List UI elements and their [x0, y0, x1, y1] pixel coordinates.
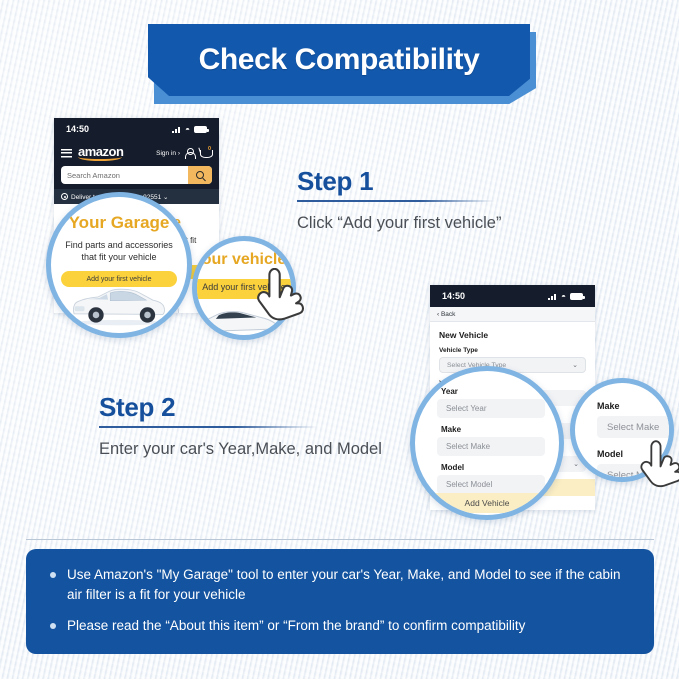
- note-item: Use Amazon's "My Garage" tool to enter y…: [50, 565, 632, 605]
- magnifier-form-content: Year Select Year Make Select Make Model …: [415, 371, 559, 515]
- zoom-label-year: Year: [441, 387, 458, 396]
- bullet-dot-icon: [50, 623, 56, 629]
- zoom-add-vehicle-button[interactable]: Add Vehicle: [410, 493, 564, 513]
- note-item: Please read the “About this item” or “Fr…: [50, 616, 632, 636]
- chevron-down-icon: ⌄: [572, 361, 578, 369]
- wifi-icon: ◓: [185, 126, 190, 133]
- amazon-nav-bar: amazon Sign in › 0: [54, 140, 219, 166]
- status-time: 14:50: [442, 291, 465, 301]
- white-suv-image: [63, 281, 175, 327]
- zoom-select-model-value: Select Model: [446, 480, 492, 489]
- sign-in-link[interactable]: Sign in ›: [156, 150, 180, 157]
- step-2-rule: [99, 426, 317, 428]
- search-bar-row: Search Amazon: [54, 166, 219, 189]
- step-2-block: Step 2 Enter your car's Year,Make, and M…: [99, 392, 399, 461]
- cart-count-badge: 0: [208, 146, 211, 152]
- back-button[interactable]: ‹ Back: [430, 307, 595, 322]
- zoom-label-model: Model: [441, 463, 464, 472]
- search-placeholder: Search Amazon: [61, 171, 188, 180]
- bullet-dot-icon: [50, 572, 56, 578]
- battery-icon: [194, 126, 207, 133]
- search-submit-button[interactable]: [188, 166, 212, 184]
- zoom-partial-garage-text: our vehicle: [197, 251, 291, 269]
- phone1-status-bar: 14:50 ◓: [54, 118, 219, 140]
- search-icon: [196, 171, 204, 179]
- step-1-description: Click “Add your first vehicle”: [297, 211, 597, 235]
- step-2-title: Step 2: [99, 392, 399, 423]
- step-1-title: Step 1: [297, 166, 597, 197]
- field-label-vehicle-type: Vehicle Type: [439, 347, 586, 354]
- hand-pointer-cursor: [636, 440, 679, 496]
- battery-icon: [570, 293, 583, 300]
- status-icons: ◓: [548, 293, 583, 300]
- hand-pointer-cursor: [252, 268, 304, 330]
- status-time: 14:50: [66, 124, 89, 134]
- account-person-icon[interactable]: [185, 148, 194, 159]
- hamburger-menu-icon[interactable]: [61, 149, 72, 158]
- shopping-cart-icon[interactable]: 0: [199, 147, 212, 159]
- zoom-make-select[interactable]: Select Make: [597, 416, 674, 438]
- section-divider: [26, 539, 654, 540]
- magnifier-garage-zoom: Your Garage Find parts and accessories t…: [46, 192, 192, 338]
- form-title: New Vehicle: [439, 330, 586, 340]
- zoom-select-model[interactable]: Select Model: [437, 475, 545, 494]
- status-icons: ◓: [172, 126, 207, 133]
- amazon-logo-text: amazon: [78, 144, 123, 159]
- magnifier-garage-content: Your Garage Find parts and accessories t…: [51, 197, 187, 333]
- note-text: Use Amazon's "My Garage" tool to enter y…: [67, 565, 632, 605]
- zoom-select-year[interactable]: Select Year: [437, 399, 545, 418]
- step-2-description: Enter your car's Year,Make, and Model: [99, 437, 399, 461]
- zoom-select-year-value: Select Year: [446, 404, 486, 413]
- notes-panel: Use Amazon's "My Garage" tool to enter y…: [26, 549, 654, 654]
- page-title: Check Compatibility: [199, 43, 480, 77]
- nav-right-group: Sign in › 0: [156, 147, 212, 159]
- zoom-garage-subtitle: Find parts and accessories that fit your…: [65, 239, 173, 263]
- zoom-model-label: Model: [597, 449, 623, 459]
- zoom-make-value: Select Make: [607, 422, 659, 433]
- signal-bars-icon: [172, 126, 181, 133]
- search-input[interactable]: Search Amazon: [61, 166, 212, 184]
- banner-plate: Check Compatibility: [148, 24, 530, 96]
- step-1-block: Step 1 Click “Add your first vehicle”: [297, 166, 597, 235]
- zoom-select-make[interactable]: Select Make: [437, 437, 545, 456]
- page-background: Check Compatibility 14:50 ◓ amazon Sign …: [0, 0, 679, 679]
- amazon-logo[interactable]: amazon: [78, 146, 123, 161]
- note-text: Please read the “About this item” or “Fr…: [67, 616, 525, 636]
- header-banner: Check Compatibility: [148, 24, 530, 96]
- signal-bars-icon: [548, 293, 557, 300]
- step-1-rule: [297, 200, 495, 202]
- zoom-make-label: Make: [597, 401, 620, 411]
- magnifier-form-zoom: Year Select Year Make Select Make Model …: [410, 366, 564, 520]
- zoom-garage-title: Your Garage: [51, 213, 187, 233]
- zoom-label-make: Make: [441, 425, 461, 434]
- wifi-icon: ◓: [561, 293, 566, 300]
- phone2-status-bar: 14:50 ◓: [430, 285, 595, 307]
- zoom-select-make-value: Select Make: [446, 442, 490, 451]
